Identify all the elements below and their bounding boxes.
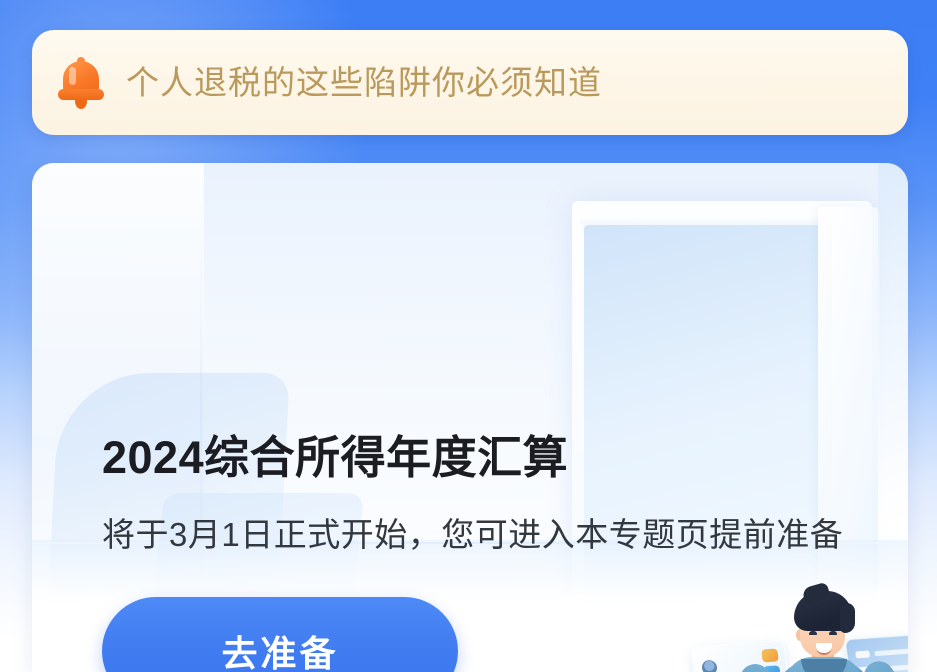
data-card-icon: [844, 633, 908, 672]
hair-tuft: [801, 582, 830, 605]
left-arm: [693, 658, 776, 672]
doorway-inner: [584, 225, 832, 625]
app-screen: 个人退税的这些陷阱你必须知道 2024综合所得年度汇算 将于3月1日正式开始，您…: [0, 0, 937, 672]
hair: [794, 591, 852, 631]
profile-card-icon: [690, 640, 791, 672]
ear: [796, 629, 804, 641]
hoodie-torso: [776, 661, 872, 672]
placeholder-line: [877, 664, 908, 672]
eye: [809, 631, 817, 635]
notice-text: 个人退税的这些陷阱你必须知道: [126, 66, 602, 99]
head: [800, 605, 845, 657]
hood: [786, 657, 862, 672]
page-subtitle: 将于3月1日正式开始，您可进入本专题页提前准备: [102, 508, 843, 556]
promo-card: 2024综合所得年度汇算 将于3月1日正式开始，您可进入本专题页提前准备 去准备: [32, 163, 908, 672]
bell-clapper: [75, 100, 87, 109]
background-scene: [32, 163, 908, 672]
prepare-button[interactable]: 去准备: [102, 597, 458, 672]
bell-highlight: [69, 67, 76, 85]
hood-opening: [801, 659, 847, 672]
doorway-frame-highlight: [580, 215, 838, 225]
eye: [829, 631, 837, 635]
tile-icon: [761, 648, 779, 662]
wall-panel-right: [878, 163, 908, 672]
placeholder-line: [874, 648, 908, 656]
door-leaf: [818, 207, 880, 627]
neck: [812, 651, 834, 669]
person-illustration: [672, 443, 908, 672]
wall-panel-left: [32, 163, 204, 672]
tile-icon: [763, 665, 781, 672]
bell-icon: [58, 57, 104, 109]
chip: [855, 651, 870, 659]
mouth: [816, 643, 832, 655]
right-hand: [871, 668, 908, 672]
avatar: [701, 660, 718, 672]
hero-illustration: [672, 443, 908, 672]
right-arm: [858, 655, 908, 672]
notice-banner[interactable]: 个人退税的这些陷阱你必须知道: [32, 30, 908, 135]
hair-side: [840, 603, 855, 633]
doorway-outer: [572, 201, 872, 631]
page-title: 2024综合所得年度汇算: [102, 421, 568, 486]
chip: [857, 666, 872, 672]
bell-rim: [58, 89, 104, 100]
wall-edge-left: [200, 163, 202, 672]
